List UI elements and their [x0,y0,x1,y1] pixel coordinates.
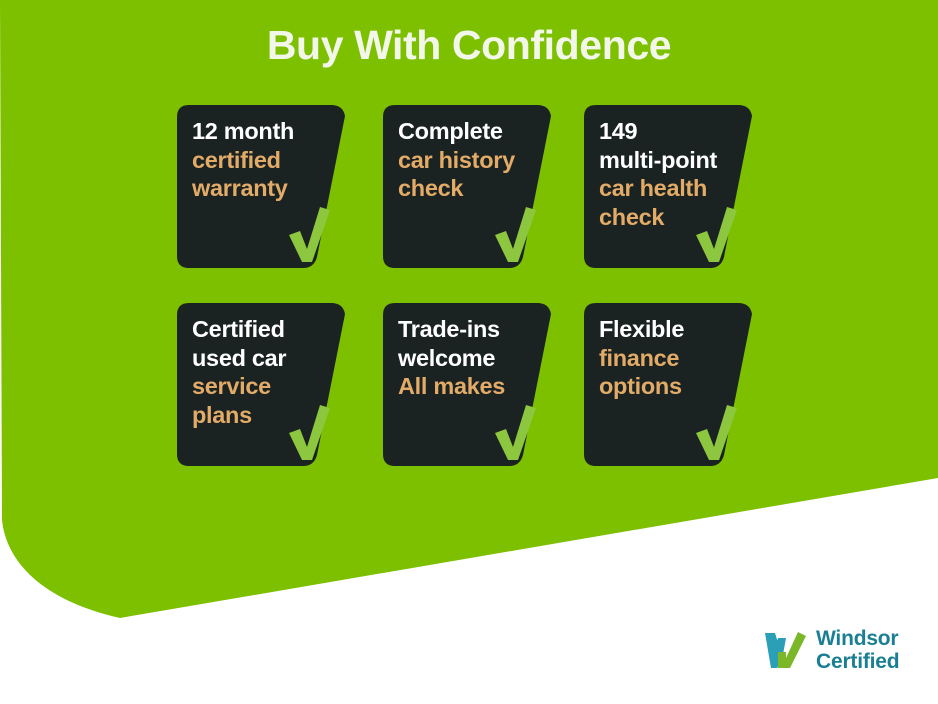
card-line-2: finance [599,344,749,373]
checkmark-icon [692,403,740,461]
logo-line-2: Certified [816,650,899,673]
card-line-3: service [192,372,342,401]
card-line-1: Complete [398,117,548,146]
benefit-card-flexible-finance-options[interactable]: Flexible finance options [584,303,762,466]
benefit-card-149-multi-point-car-health-check[interactable]: 149 multi-point car health check [584,105,762,268]
logo-line-1: Windsor [816,627,899,650]
card-text-block: Complete car history check [398,117,548,203]
card-text-block: 12 month certified warranty [192,117,342,203]
benefit-card-trade-ins-welcome-all-makes[interactable]: Trade-ins welcome All makes [383,303,561,466]
card-line-2: certified [192,146,342,175]
benefit-card-certified-used-car-service-plans[interactable]: Certified used car service plans [177,303,355,466]
benefit-card-12-month-certified-warranty[interactable]: 12 month certified warranty [177,105,355,268]
checkmark-icon [491,205,539,263]
checkmark-icon [491,403,539,461]
card-line-1: Flexible [599,315,749,344]
card-line-2: multi-point [599,146,749,175]
card-text-block: Trade-ins welcome All makes [398,315,548,401]
page-title: Buy With Confidence [0,20,938,70]
card-line-1: 12 month [192,117,342,146]
card-line-3: All makes [398,372,548,401]
card-line-1: Trade-ins [398,315,548,344]
benefit-card-complete-car-history-check[interactable]: Complete car history check [383,105,561,268]
card-text-block: Flexible finance options [599,315,749,401]
benefit-card-grid: 12 month certified warranty Complete car… [0,0,938,704]
card-line-2: used car [192,344,342,373]
checkmark-icon [285,205,333,263]
brand-logo[interactable]: Windsor Certified [762,627,899,673]
windsor-w-icon [762,630,808,670]
card-line-2: car history [398,146,548,175]
card-line-1: Certified [192,315,342,344]
card-line-3: car health [599,174,749,203]
card-line-1: 149 [599,117,749,146]
card-line-3: options [599,372,749,401]
card-line-3: check [398,174,548,203]
card-line-2: welcome [398,344,548,373]
card-line-3: warranty [192,174,342,203]
poster-canvas: Buy With Confidence 12 month certified w… [0,0,938,704]
checkmark-icon [285,403,333,461]
checkmark-icon [692,205,740,263]
logo-wordmark: Windsor Certified [816,627,899,673]
